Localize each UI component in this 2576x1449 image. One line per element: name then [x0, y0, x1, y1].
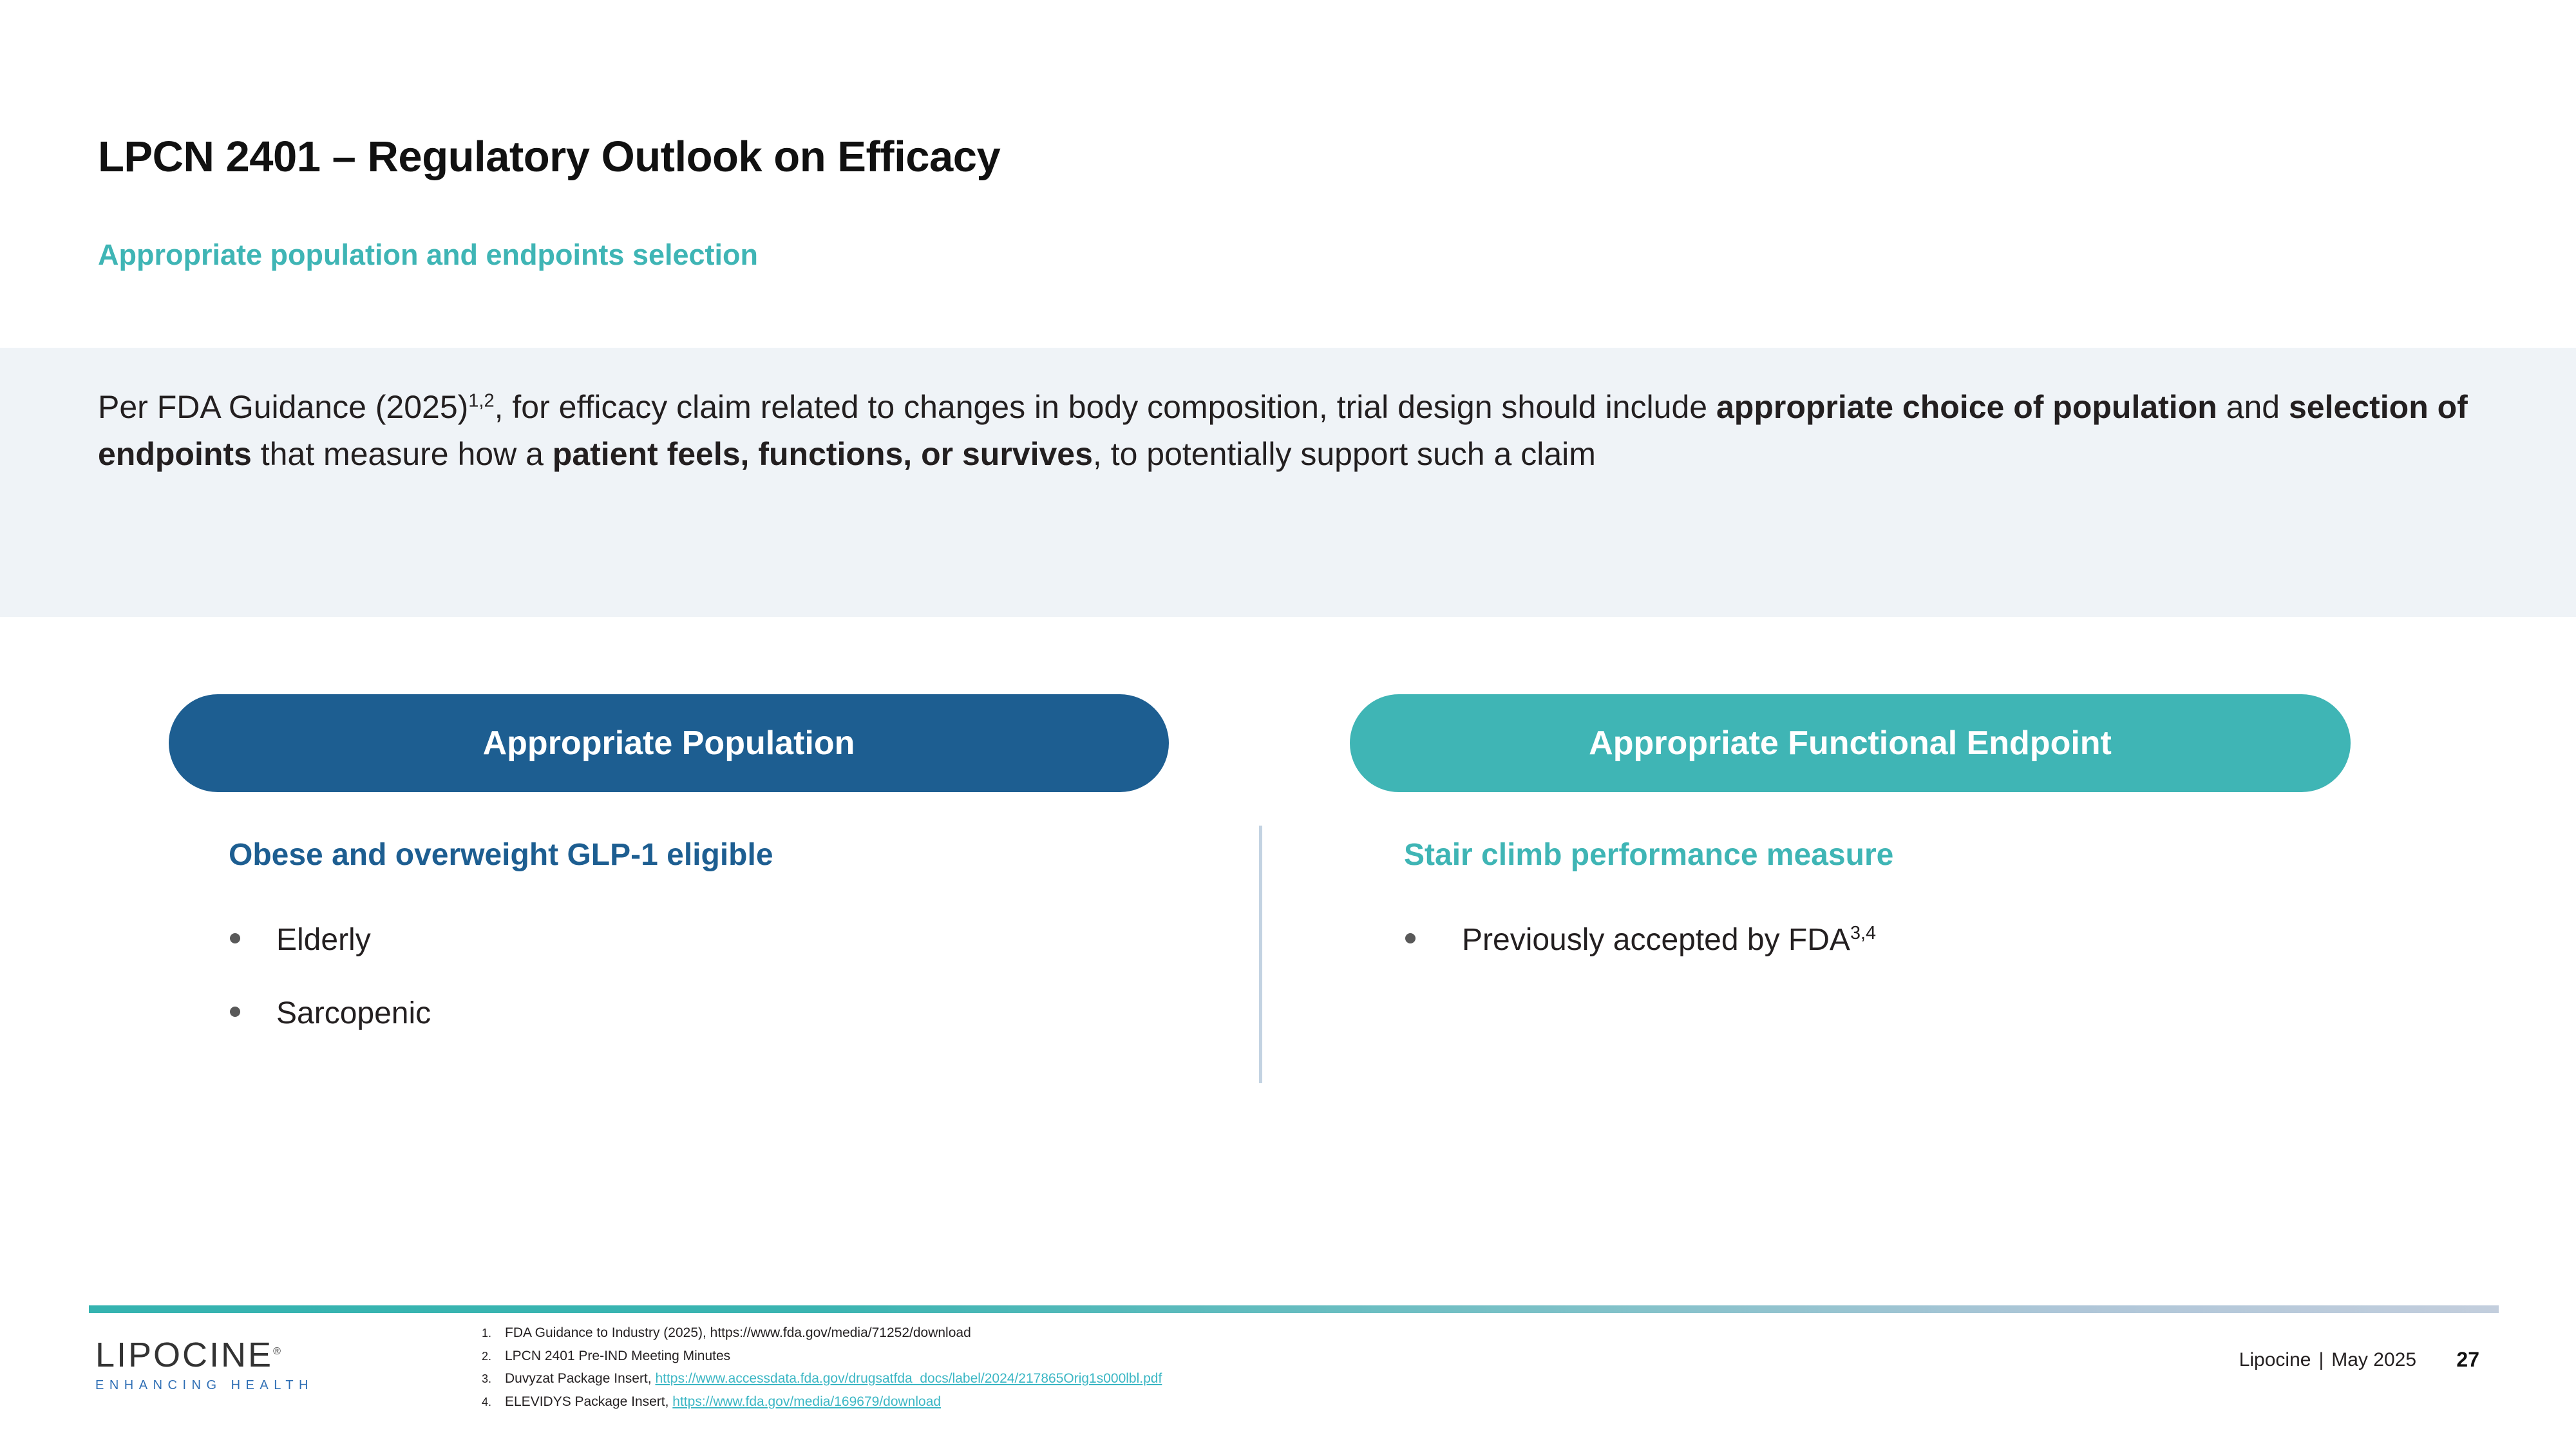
bullet-list: Previously accepted by FDA3,4 [1404, 922, 2344, 959]
slide-canvas: LPCN 2401 – Regulatory Outlook on Effica… [0, 0, 2576, 1449]
column-population: Obese and overweight GLP-1 eligible Elde… [229, 837, 1169, 1068]
footnote-text: Duvyzat Package Insert, [505, 1371, 655, 1386]
column-heading: Obese and overweight GLP-1 eligible [229, 837, 1169, 873]
footnote-list: 1. FDA Guidance to Industry (2025), http… [482, 1326, 2027, 1408]
list-item: Sarcopenic [229, 995, 1169, 1032]
lipocine-logo: LIPOCINE® ENHANCING HEALTH [95, 1338, 366, 1392]
footnote-number: 3. [482, 1373, 491, 1385]
footnote-link[interactable]: https://www.accessdata.fda.gov/drugsatfd… [655, 1371, 1162, 1386]
list-item: Elderly [229, 922, 1169, 959]
footnote-item: 3. Duvyzat Package Insert, https://www.a… [482, 1372, 2027, 1385]
page-title: LPCN 2401 – Regulatory Outlook on Effica… [98, 132, 1000, 182]
bullet-text: Elderly [276, 923, 371, 957]
callout-mid1: and [2217, 389, 2289, 425]
callout-lead: Per FDA Guidance (2025) [98, 389, 468, 425]
column-divider [1259, 826, 1262, 1083]
footnotes: 1. FDA Guidance to Industry (2025), http… [482, 1326, 2027, 1417]
footer-divider-rule [89, 1305, 2499, 1313]
callout-bold-feels-functions: patient feels, functions, or survives [553, 436, 1093, 472]
pill-appropriate-functional-endpoint: Appropriate Functional Endpoint [1350, 694, 2351, 792]
pill-appropriate-population: Appropriate Population [169, 694, 1169, 792]
bullet-dot-icon [230, 933, 240, 943]
bullet-dot-icon [230, 1007, 240, 1017]
footnote-number: 4. [482, 1396, 491, 1408]
footnote-item: 1. FDA Guidance to Industry (2025), http… [482, 1326, 2027, 1340]
footer-meta: Lipocine|May 2025 [2239, 1349, 2416, 1371]
footnote-link[interactable]: https://www.fda.gov/media/169679/downloa… [672, 1394, 941, 1409]
callout-bold-population: appropriate choice of population [1716, 389, 2217, 425]
callout-paragraph: Per FDA Guidance (2025)1,2, for efficacy… [98, 384, 2468, 477]
bullet-list: Elderly Sarcopenic [229, 922, 1169, 1032]
footnote-item: 2. LPCN 2401 Pre-IND Meeting Minutes [482, 1349, 2027, 1363]
bullet-dot-icon [1405, 933, 1416, 943]
column-heading: Stair climb performance measure [1404, 837, 2344, 873]
footer-date: May 2025 [2331, 1349, 2416, 1370]
logo-tagline: ENHANCING HEALTH [95, 1379, 366, 1392]
footnote-text: LPCN 2401 Pre-IND Meeting Minutes [505, 1349, 730, 1363]
footnote-number: 2. [482, 1350, 491, 1362]
bullet-superscript: 3,4 [1850, 923, 1876, 943]
footer-company: Lipocine [2239, 1349, 2311, 1370]
list-item: Previously accepted by FDA3,4 [1404, 922, 2344, 959]
callout-part2: , for efficacy claim related to changes … [495, 389, 1716, 425]
bullet-text: Sarcopenic [276, 996, 431, 1030]
logo-wordmark: LIPOCINE® [95, 1338, 366, 1372]
bullet-text: Previously accepted by FDA [1462, 923, 1850, 957]
logo-wordmark-text: LIPOCINE [95, 1336, 273, 1374]
page-subtitle: Appropriate population and endpoints sel… [98, 238, 758, 272]
callout-lead-superscript: 1,2 [468, 390, 494, 411]
footer-separator: | [2318, 1349, 2324, 1371]
callout-mid2: that measure how a [252, 436, 553, 472]
footnote-text: FDA Guidance to Industry (2025), https:/… [505, 1325, 971, 1340]
footnote-number: 1. [482, 1327, 491, 1339]
pill-label: Appropriate Population [483, 724, 855, 762]
pill-label: Appropriate Functional Endpoint [1589, 724, 2112, 762]
callout-tail: , to potentially support such a claim [1093, 436, 1596, 472]
footnote-item: 4. ELEVIDYS Package Insert, https://www.… [482, 1395, 2027, 1408]
column-endpoint: Stair climb performance measure Previous… [1404, 837, 2344, 995]
page-number: 27 [2456, 1348, 2479, 1372]
registered-trademark-icon: ® [273, 1346, 281, 1357]
footnote-text: ELEVIDYS Package Insert, [505, 1394, 672, 1409]
